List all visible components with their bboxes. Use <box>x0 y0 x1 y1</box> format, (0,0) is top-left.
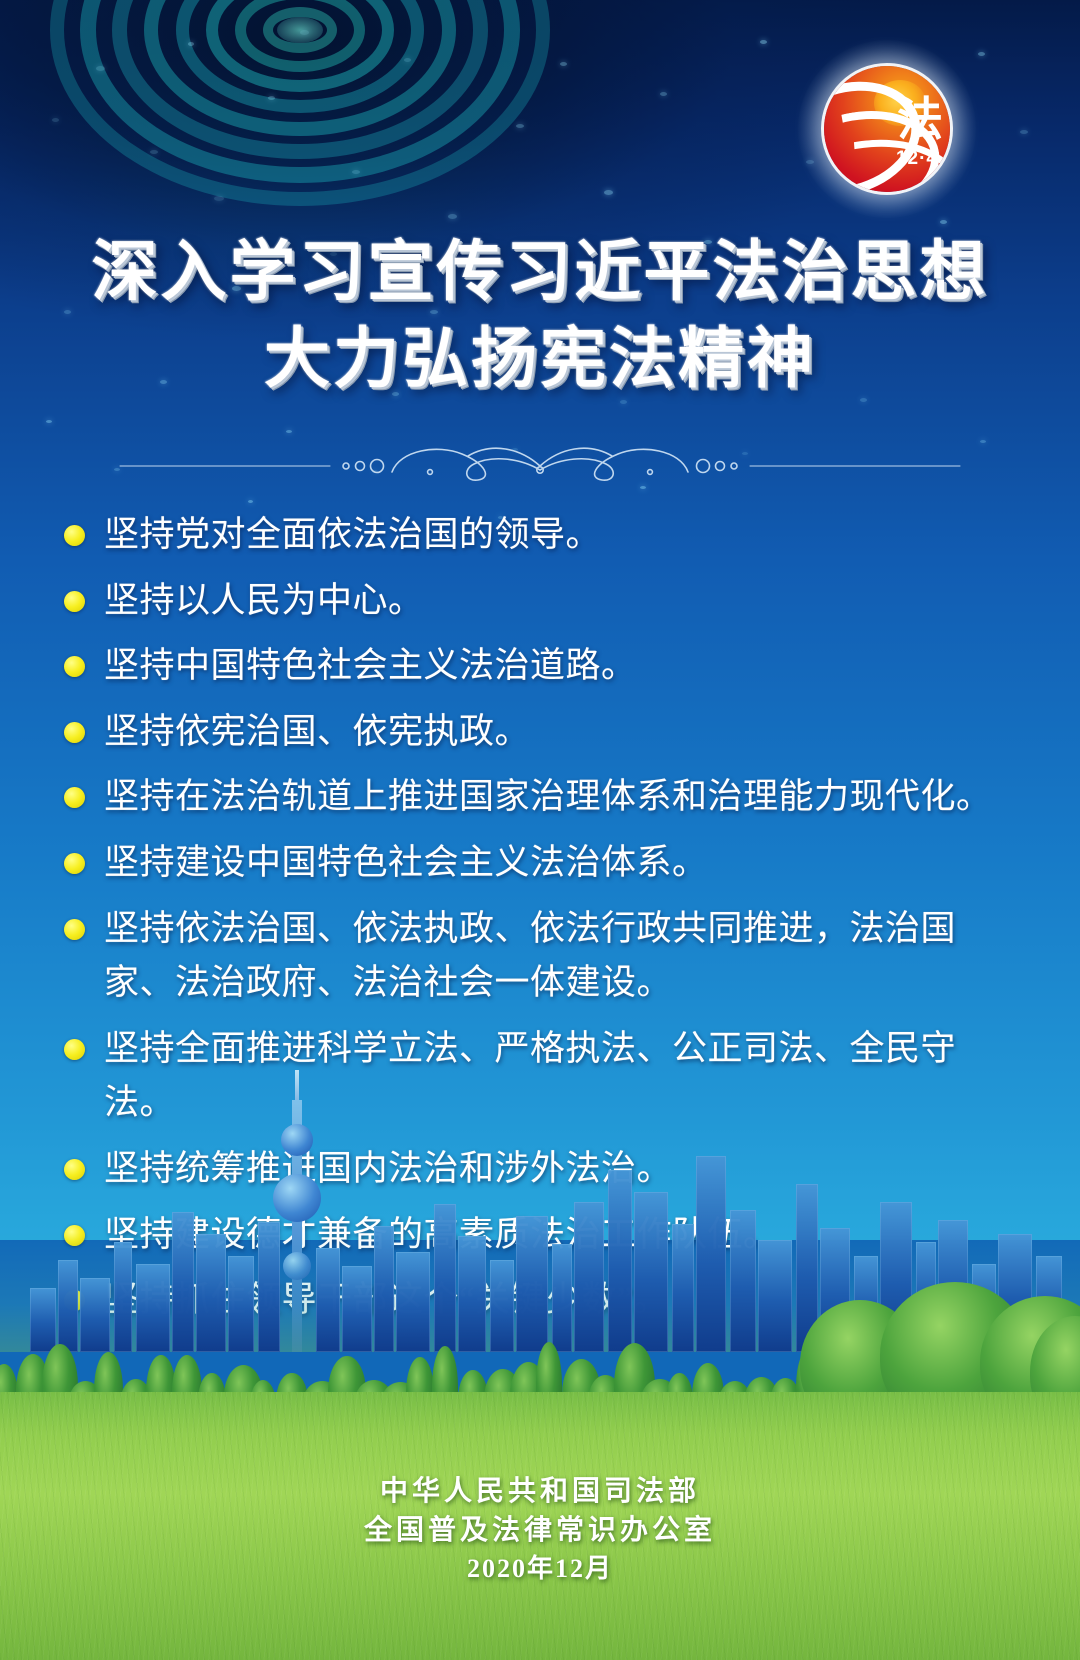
light-speck <box>978 52 985 56</box>
list-item: 坚持在法治轨道上推进国家治理体系和治理能力现代化。 <box>64 770 1024 825</box>
light-speck <box>96 66 105 71</box>
light-speck <box>150 150 158 154</box>
title-line-2: 大力弘扬宪法精神 <box>0 315 1080 402</box>
bullet-dot-icon <box>64 853 85 874</box>
logo-date-label: 12·4 <box>896 148 938 170</box>
footer-org-line-1: 中华人民共和国司法部 <box>0 1472 1080 1512</box>
poster-root: 法 12·4 深入学习宣传习近平法治思想 大力弘扬宪法精神 <box>0 0 1080 1660</box>
flourish-icon <box>0 432 1080 488</box>
light-speck <box>760 40 767 44</box>
light-speck <box>268 96 275 100</box>
light-speck <box>248 500 253 503</box>
bullet-dot-icon <box>64 591 85 612</box>
light-speck <box>404 58 411 62</box>
footer-org-line-2: 全国普及法律常识办公室 <box>0 1511 1080 1551</box>
tower-sphere-top <box>281 1124 313 1156</box>
list-item-label: 坚持党对全面依法治国的领导。 <box>104 508 1024 563</box>
light-speck <box>214 196 224 201</box>
list-item: 坚持以人民为中心。 <box>64 574 1024 629</box>
list-item-label: 坚持依法治国、依法执政、依法行政共同推进，法治国家、法治政府、法治社会一体建设。 <box>104 902 1024 1011</box>
light-speck <box>188 42 194 46</box>
list-item: 坚持建设中国特色社会主义法治体系。 <box>64 836 1024 891</box>
constitution-day-logo: 法 12·4 <box>824 66 950 192</box>
list-item: 坚持党对全面依法治国的领导。 <box>64 508 1024 563</box>
light-speck <box>448 214 457 219</box>
light-speck <box>52 118 59 122</box>
list-item: 坚持中国特色社会主义法治道路。 <box>64 639 1024 694</box>
bullet-dot-icon <box>64 722 85 743</box>
light-speck <box>940 220 947 224</box>
light-speck <box>604 190 613 195</box>
light-speck <box>516 124 524 128</box>
list-item: 坚持依法治国、依法执政、依法行政共同推进，法治国家、法治政府、法治社会一体建设。 <box>64 902 1024 1011</box>
logo-fa-character: 法 <box>897 96 942 142</box>
list-item-label: 坚持建设中国特色社会主义法治体系。 <box>104 836 1024 891</box>
light-speck <box>1020 130 1028 134</box>
title-line-1: 深入学习宣传习近平法治思想 <box>0 228 1080 315</box>
list-item-label: 坚持中国特色社会主义法治道路。 <box>104 639 1024 694</box>
list-item: 坚持依宪治国、依宪执政。 <box>64 705 1024 760</box>
footer-date: 2020年12月 <box>0 1551 1080 1588</box>
logo-circle: 法 12·4 <box>824 66 950 192</box>
bullet-dot-icon <box>64 919 85 940</box>
light-speck <box>352 170 360 174</box>
list-item-label: 坚持在法治轨道上推进国家治理体系和治理能力现代化。 <box>104 770 1024 825</box>
light-speck <box>46 420 52 423</box>
bullet-dot-icon <box>64 525 85 546</box>
bullet-dot-icon <box>64 787 85 808</box>
bullet-dot-icon <box>64 656 85 677</box>
tower-sphere-middle <box>273 1174 321 1222</box>
light-speck <box>660 92 667 96</box>
light-speck <box>300 30 309 35</box>
ornamental-divider <box>0 432 1080 488</box>
list-item-label: 坚持以人民为中心。 <box>104 574 1024 629</box>
light-speck <box>560 62 567 66</box>
poster-title: 深入学习宣传习近平法治思想 大力弘扬宪法精神 <box>0 228 1080 402</box>
list-item-label: 坚持依宪治国、依宪执政。 <box>104 705 1024 760</box>
poster-footer: 中华人民共和国司法部 全国普及法律常识办公室 2020年12月 <box>0 1472 1080 1588</box>
